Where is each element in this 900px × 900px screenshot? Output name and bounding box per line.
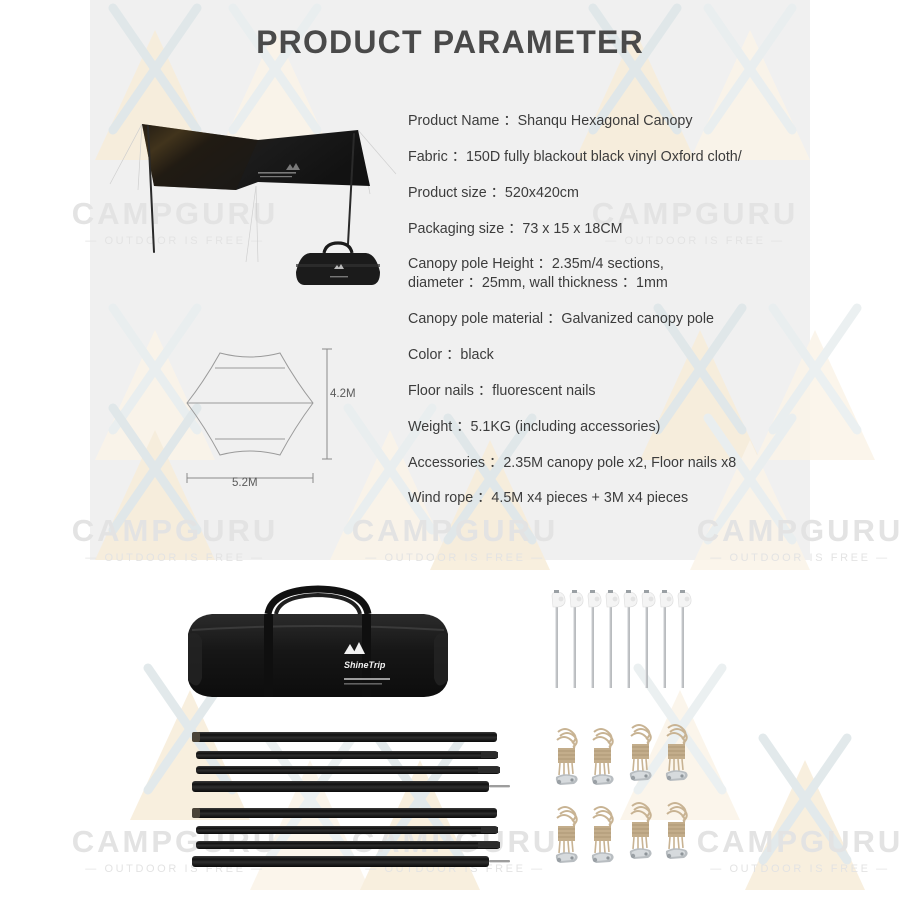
diagram-height-label: 4.2M <box>330 388 356 400</box>
canopy-poles-image <box>186 722 516 880</box>
pole-set-1 <box>192 732 510 792</box>
spec-canopy-pole-material: Canopy pole material ：Galvanized canopy … <box>408 310 808 329</box>
page-title: PRODUCT PARAMETER <box>90 24 810 61</box>
product-parameter-page: CAMPGURU — OUTDOOR IS FREE — CAMPGURU — … <box>0 0 900 900</box>
spec-packaging-size: Packaging size ：73 x 15 x 18CM <box>408 220 808 239</box>
spec-wind-rope: Wind rope ：4.5M x4 pieces + 3M x4 pieces <box>408 489 808 508</box>
carry-bag-large-image: ShineTrip <box>172 582 462 710</box>
canopy-dimension-diagram <box>175 335 375 500</box>
floor-nails-image <box>546 590 706 690</box>
wind-ropes-image <box>548 722 706 880</box>
spec-product-name: Product Name ：Shanqu Hexagonal Canopy <box>408 112 808 131</box>
spec-product-size: Product size ：520x420cm <box>408 184 808 203</box>
spec-weight: Weight ：5.1KG (including accessories) <box>408 418 808 437</box>
spec-fabric: Fabric ：150D fully blackout black vinyl … <box>408 148 808 167</box>
carry-bag-small-image <box>288 238 388 290</box>
pole-set-2 <box>192 808 510 867</box>
bag-brand-label: ShineTrip <box>344 660 386 670</box>
specification-list: Product Name ：Shanqu Hexagonal Canopy Fa… <box>408 112 808 525</box>
spec-floor-nails: Floor nails ：fluorescent nails <box>408 382 808 401</box>
diagram-width-label: 5.2M <box>232 477 258 489</box>
spec-color: Color ：black <box>408 346 808 365</box>
spec-accessories: Accessories ：2.35M canopy pole x2, Floor… <box>408 454 808 473</box>
spec-canopy-pole-height: Canopy pole Height ：2.35m/4 sections, di… <box>408 255 808 293</box>
